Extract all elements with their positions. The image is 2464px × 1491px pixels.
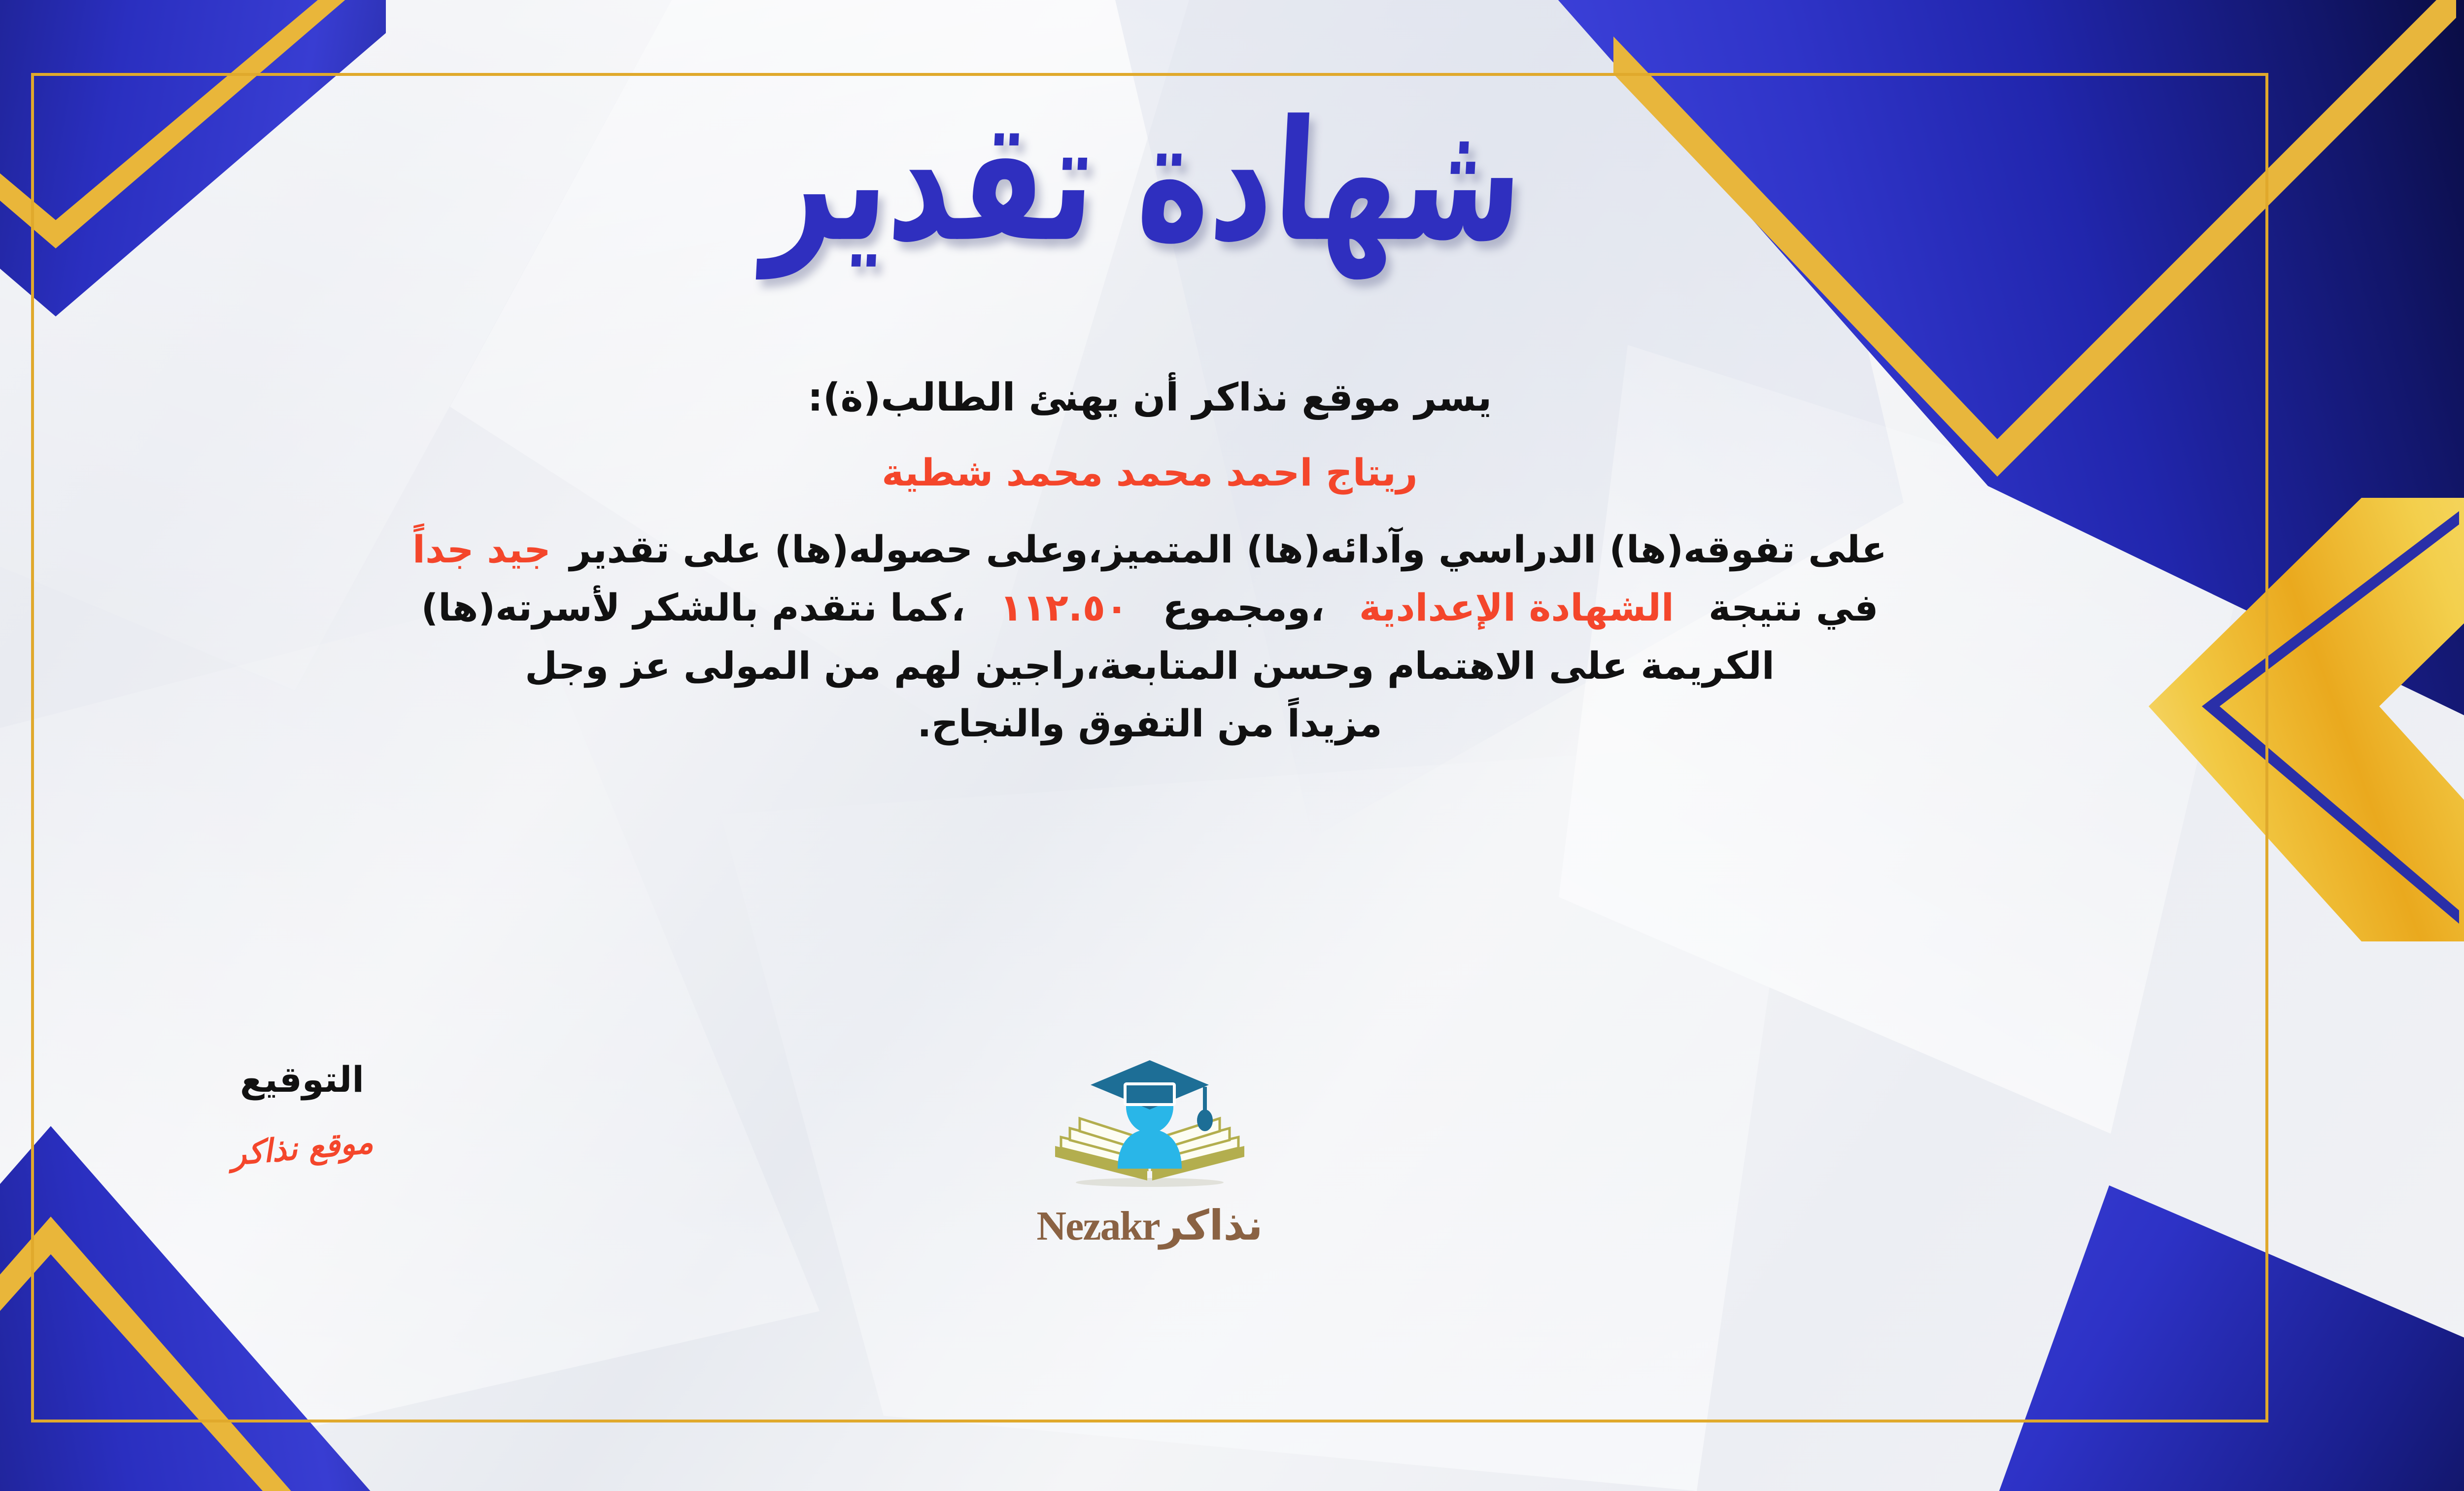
body-line-2-mid: ،ومجموع: [1163, 586, 1324, 629]
exam-name: الشهادة الإعدادية: [1359, 586, 1674, 629]
logo-arabic-name: نذاكر: [1160, 1201, 1263, 1249]
signature-handwriting: موقع نذاكر: [230, 1124, 375, 1173]
body-line-3: الكريمة على الاهتمام وحسن المتابعة،راجين…: [70, 637, 2229, 695]
body-line-4: مزيداً من التفوق والنجاح.: [70, 694, 2229, 753]
certificate-canvas: شهادة تقدير يسر موقع نذاكر أن يهنئ الطال…: [0, 0, 2464, 1491]
logo-latin-name: Nezakr: [1036, 1203, 1159, 1249]
body-line-2: في نتيجةالشهادة الإعدادية،ومجموع١١٢.٥٠،ك…: [70, 579, 2229, 637]
student-name: ريتاج احمد محمد محمد شطية: [70, 444, 2229, 501]
body-line-2-suffix: ،كما نتقدم بالشكر لأسرته(ها): [421, 586, 965, 629]
grade-value: جيد جداً: [412, 527, 551, 571]
signature-block: التوقيع موقع نذاكر: [115, 1059, 489, 1167]
body-line-1-text: على تفوقه(ها) الدراسي وآدائه(ها) المتميز…: [570, 527, 1887, 571]
body-line-1: على تفوقه(ها) الدراسي وآدائه(ها) المتميز…: [70, 520, 2229, 579]
intro-line: يسر موقع نذاكر أن يهنئ الطالب(ة):: [70, 369, 2229, 427]
certificate-body: يسر موقع نذاكر أن يهنئ الطالب(ة): ريتاج …: [70, 369, 2229, 753]
certificate-title: شهادة تقدير: [20, 78, 2268, 286]
certificate-content: شهادة تقدير يسر موقع نذاكر أن يهنئ الطال…: [31, 73, 2268, 1422]
signature-label: التوقيع: [115, 1059, 489, 1100]
graduate-book-icon: [1046, 1051, 1253, 1199]
logo-wordmark: نذاكرNezakr: [992, 1201, 1307, 1250]
body-line-2-prefix: في نتيجة: [1709, 586, 1879, 629]
site-logo: نذاكرNezakr: [992, 1051, 1307, 1250]
total-score: ١١٢.٥٠: [1000, 586, 1129, 629]
